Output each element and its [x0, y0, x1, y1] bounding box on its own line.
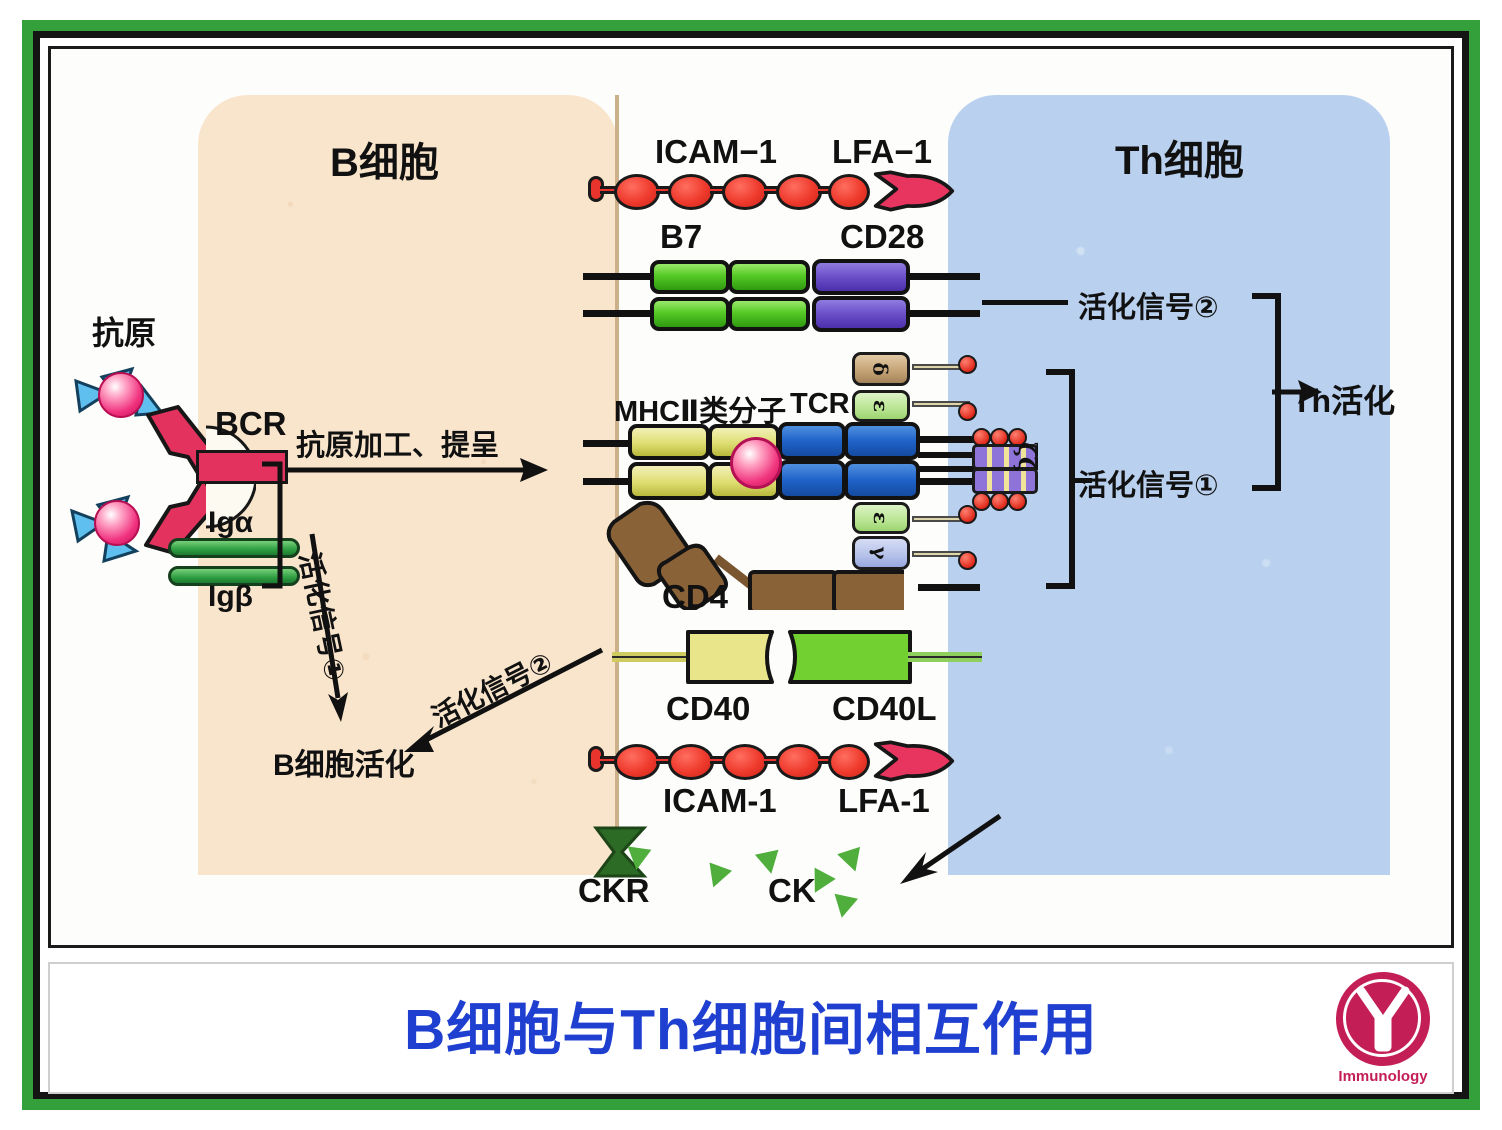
peptide-antigen-icon	[730, 437, 782, 489]
th-activation-label: Th活化	[1292, 376, 1395, 422]
t-signal-1-label: 活化信号①	[1078, 462, 1219, 504]
cd28-domain-upper	[812, 259, 910, 295]
t-signal-2-line	[982, 300, 1068, 305]
cd40-label: CD40	[666, 690, 750, 728]
cd40-cd40l-icon	[612, 626, 992, 688]
cd4-membrane-line	[918, 584, 980, 591]
ig-alpha-label: Igα	[208, 506, 253, 540]
b7-label: B7	[660, 218, 702, 256]
ckr-label: CKR	[578, 872, 650, 910]
cd3-delta-itam	[958, 355, 977, 374]
tcr-beta-domain-2	[844, 460, 920, 500]
icam1-top-label: ICAM−1	[655, 133, 777, 171]
mhc2-beta-domain-1	[628, 462, 710, 500]
immunology-logo: Immunology	[1322, 972, 1444, 1090]
cd3-epsilon-upper-glyph: ε	[869, 400, 893, 412]
cd4-label: CD4	[662, 578, 728, 616]
cd28-label: CD28	[840, 218, 924, 256]
mhc-membrane-line-lower	[583, 478, 631, 485]
mhc-membrane-line-upper	[583, 440, 631, 447]
zeta-chain-lower	[972, 468, 1038, 494]
ck-triangle-1	[625, 846, 652, 871]
cd28-membrane-line-lower	[906, 310, 980, 317]
cd40l-label: CD40L	[832, 690, 937, 728]
cd28-domain-lower	[812, 296, 910, 332]
cd3-delta-glyph: δ	[869, 362, 893, 375]
b-cell-activation-label: B细胞活化	[273, 740, 415, 784]
figure-canvas: B细胞 Th细胞 抗原 BCR Igα Igβ 抗原加工、提呈	[0, 0, 1502, 1130]
b7-domain-2-lower	[728, 297, 810, 331]
figure-title: B细胞与Th细胞间相互作用	[50, 984, 1452, 1066]
antibody-y-icon	[1353, 985, 1413, 1053]
antigen-ball-lower	[94, 500, 140, 546]
ck-secretion-arrow	[890, 810, 1010, 890]
icam1-bottom-label: ICAM-1	[663, 782, 777, 820]
zeta-connector-upper	[918, 452, 974, 458]
logo-label: Immunology	[1322, 1068, 1444, 1085]
zeta-itam-bottom-1	[972, 492, 991, 511]
b7-domain-1-lower	[650, 297, 730, 331]
icam1-top-icon	[588, 172, 888, 212]
ig-beta-label: Igβ	[208, 580, 253, 614]
tcr-label: TCR	[790, 388, 850, 421]
cd28-membrane-line-upper	[906, 273, 980, 280]
b7-domain-1-upper	[650, 260, 730, 294]
tcr-alpha-domain-2	[844, 422, 920, 460]
lfa1-bottom-icon	[872, 738, 956, 784]
tcr-membrane-line-upper	[916, 436, 978, 443]
lfa1-top-label: LFA−1	[832, 133, 932, 171]
zeta-label: ζζ	[1013, 442, 1042, 472]
logo-circle-icon	[1336, 972, 1430, 1066]
tcr-membrane-line-lower	[916, 478, 978, 485]
cd3-gamma-itam	[958, 551, 977, 570]
cd3-delta-chain: δ	[852, 352, 910, 386]
bcr-label: BCR	[215, 405, 287, 443]
zeta-connector-lower	[918, 466, 974, 472]
cd3-epsilon-upper-itam	[958, 402, 977, 421]
icam1-bottom-icon	[588, 742, 888, 782]
antigen-processing-arrow	[284, 455, 554, 495]
b7-domain-2-upper	[728, 260, 810, 294]
b7-membrane-line-upper	[583, 273, 653, 280]
title-banner: B细胞与Th细胞间相互作用	[48, 962, 1454, 1094]
antigen-label: 抗原	[92, 308, 156, 354]
cd4-icon	[604, 500, 904, 610]
antigen-ball-upper	[98, 372, 144, 418]
zeta-itam-bottom-2	[990, 492, 1009, 511]
cd3-epsilon-upper-chain: ε	[852, 390, 910, 422]
b-cell-label: B细胞	[330, 130, 439, 188]
t-cell-label: Th细胞	[1115, 128, 1244, 186]
t-signal-2-label: 活化信号②	[1078, 284, 1219, 326]
ck-triangle-6	[830, 894, 858, 921]
mhc2-alpha-domain-1	[628, 424, 710, 460]
zeta-itam-bottom-3	[1008, 492, 1027, 511]
tcr-alpha-domain-1	[778, 422, 846, 460]
lfa1-top-icon	[872, 168, 956, 214]
b7-membrane-line-lower	[583, 310, 653, 317]
tcr-beta-domain-1	[778, 460, 846, 500]
